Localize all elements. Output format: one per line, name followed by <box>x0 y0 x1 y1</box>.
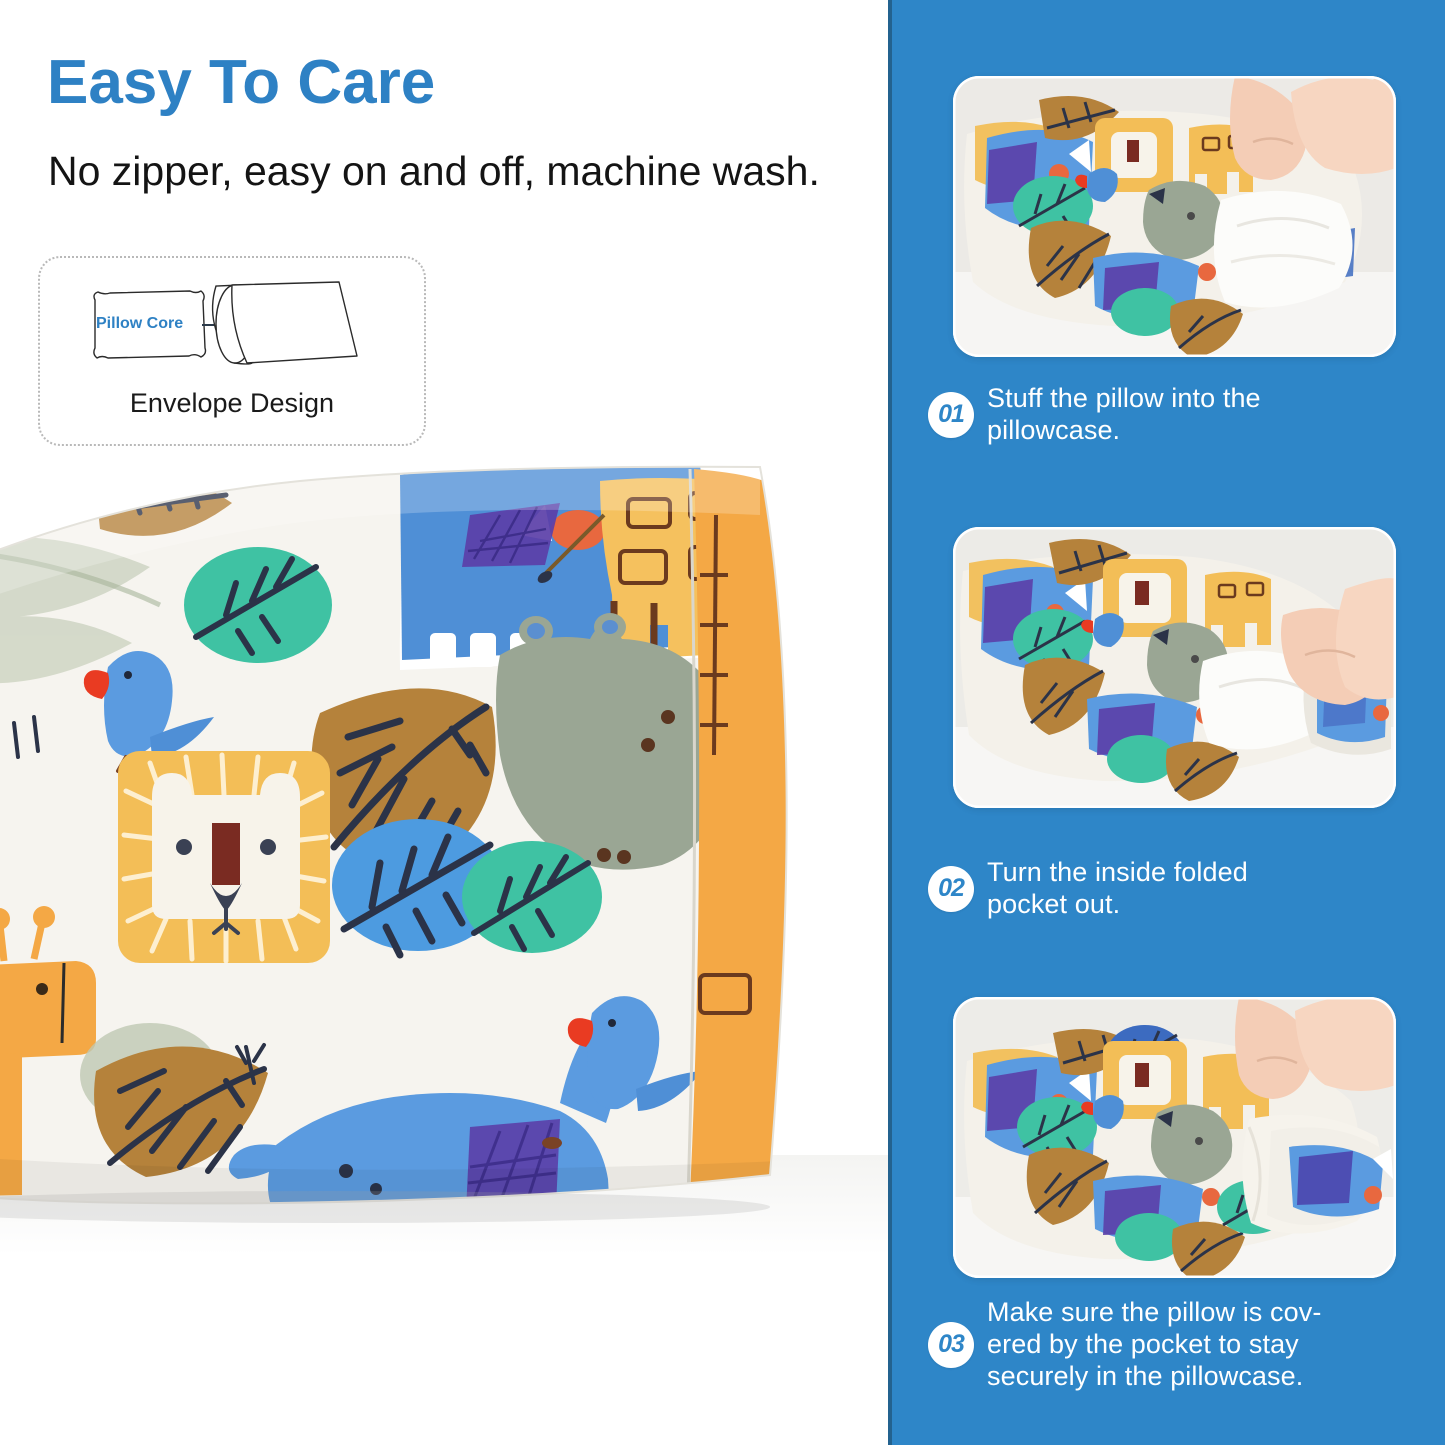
step-01-badge: 01 <box>928 392 974 438</box>
page-title: Easy To Care <box>47 52 435 114</box>
step-03-line-3: securely in the pillowcase. <box>987 1361 1321 1393</box>
step-02-line-1: Turn the inside folded <box>987 857 1248 889</box>
infographic-page: Easy To Care No zipper, easy on and off,… <box>0 0 1445 1445</box>
step-01-illustration <box>953 76 1396 357</box>
hero-product-photo <box>0 455 888 1255</box>
step-01-caption: 01 Stuff the pillow into the pillowcase. <box>928 383 1398 447</box>
step-01-text: Stuff the pillow into the pillowcase. <box>987 383 1261 447</box>
step-03-badge: 03 <box>928 1322 974 1368</box>
step-03-line-2: ered by the pocket to stay <box>987 1329 1321 1361</box>
left-panel: Easy To Care No zipper, easy on and off,… <box>0 0 888 1445</box>
envelope-design-caption: Envelope Design <box>40 388 424 419</box>
step-02-illustration <box>953 527 1396 808</box>
step-03-photo[interactable] <box>953 997 1396 1278</box>
pillow-core-label: Pillow Core <box>96 315 183 333</box>
page-subtitle: No zipper, easy on and off, machine wash… <box>48 148 820 195</box>
step-03-line-1: Make sure the pillow is cov- <box>987 1297 1321 1329</box>
step-02-badge: 02 <box>928 866 974 912</box>
step-01-photo[interactable] <box>953 76 1396 357</box>
lion-motif <box>118 751 330 963</box>
step-01-line-2: pillowcase. <box>987 415 1261 447</box>
steps-panel: 01 Stuff the pillow into the pillowcase. <box>888 0 1445 1445</box>
step-02-line-2: pocket out. <box>987 889 1248 921</box>
step-01-line-1: Stuff the pillow into the <box>987 383 1261 415</box>
pillowcase-outline-icon <box>232 282 357 363</box>
step-02-caption: 02 Turn the inside folded pocket out. <box>928 857 1398 921</box>
step-02-text: Turn the inside folded pocket out. <box>987 857 1248 921</box>
step-03-caption: 03 Make sure the pillow is cov- ered by … <box>928 1297 1398 1393</box>
envelope-design-diagram: Pillow Core Envelope Design <box>38 256 426 446</box>
step-02-photo[interactable] <box>953 527 1396 808</box>
pillow-illustration <box>0 455 888 1255</box>
step-03-illustration <box>953 997 1396 1278</box>
step-03-text: Make sure the pillow is cov- ered by the… <box>987 1297 1321 1393</box>
